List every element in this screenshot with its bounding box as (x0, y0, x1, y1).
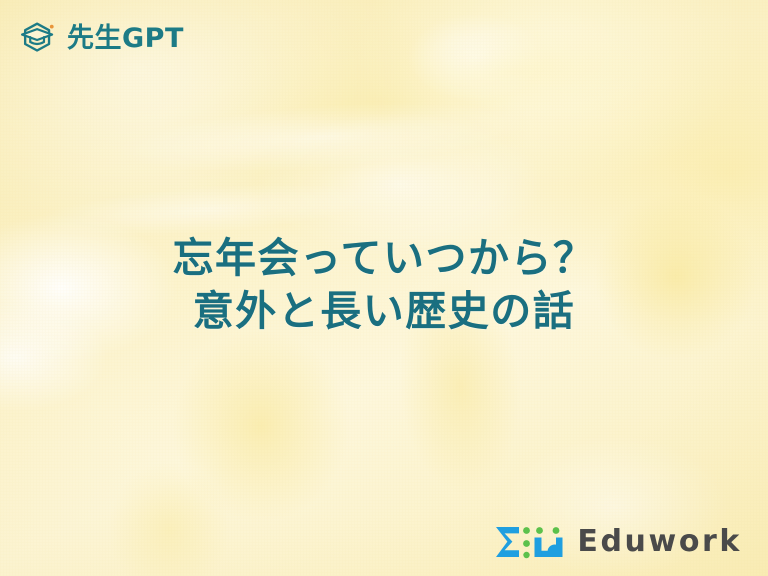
graduation-cap-hexagon-icon (18, 19, 58, 57)
eduwork-logomark (492, 524, 566, 560)
eduwork-wordmark: Eduwork (577, 527, 742, 557)
eduwork-dot-middle (523, 540, 530, 547)
eduwork-dot-top (523, 527, 530, 534)
headline-line-2: 意外と長い歴史の話 (0, 285, 768, 338)
headline-line-1: 忘年会っていつから？ (0, 232, 768, 285)
page-title: 忘年会っていつから？ 意外と長い歴史の話 (0, 232, 768, 339)
brand-lockup[interactable]: 先生GPT (18, 19, 184, 57)
orange-dot-accent (50, 25, 54, 29)
eduwork-lockup[interactable]: Eduwork (492, 524, 742, 560)
eduwork-dot-right-a (536, 527, 543, 534)
brand-name: 先生GPT (67, 25, 184, 52)
eduwork-sigma-mark (496, 527, 519, 557)
eduwork-dot-right-b (553, 527, 560, 534)
eduwork-dot-bottom (524, 552, 530, 558)
slide-canvas: 先生GPT 忘年会っていつから？ 意外と長い歴史の話 Eduwork (0, 0, 768, 576)
